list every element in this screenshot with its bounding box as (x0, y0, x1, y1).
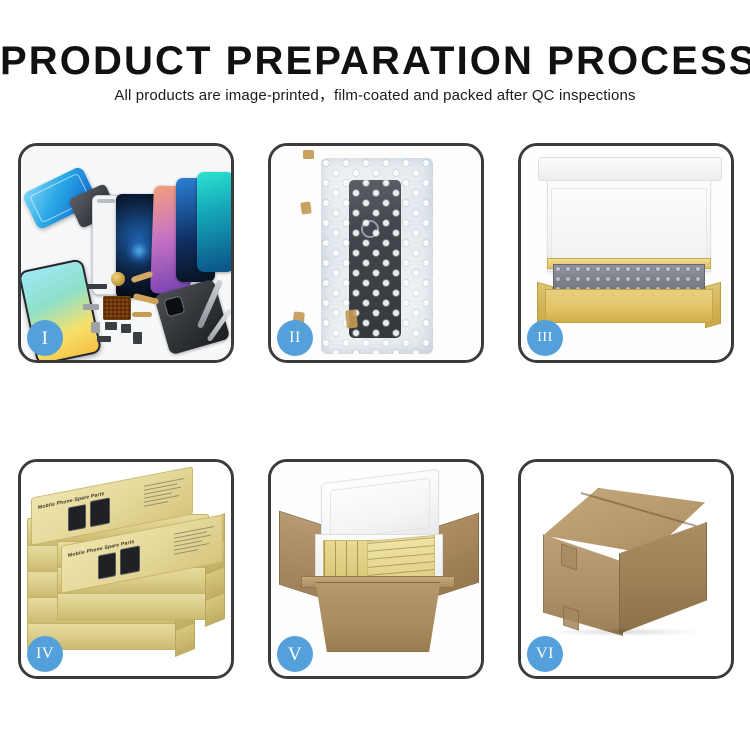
phone-thumbnail-icon (68, 504, 86, 531)
camera-module-icon (105, 322, 117, 330)
carton-shadow (547, 628, 701, 636)
box-spec-lines (174, 526, 214, 562)
screw-set-icon (133, 332, 142, 344)
box-spec-lines (144, 478, 184, 514)
sim-tray-icon (91, 322, 100, 333)
step-badge-1: I (27, 320, 63, 356)
kraft-box-front (545, 289, 713, 323)
bubble-wrap-bag (321, 158, 433, 354)
step-badge-2: II (277, 320, 313, 356)
carton-tape-lower-icon (563, 605, 579, 630)
step-badge-5: V (277, 636, 313, 672)
step-badge-6: VI (527, 636, 563, 672)
phone-thumbnail-icon (90, 497, 110, 527)
metal-bracket-icon (83, 304, 99, 310)
tape-strip-bottom-right-icon (345, 309, 358, 328)
white-foam-sheet (551, 188, 707, 264)
phone-screen-teal-icon (197, 172, 231, 272)
process-step-card-3[interactable]: III (518, 143, 734, 363)
carton-front-panel (307, 582, 449, 652)
tape-strip-mid-icon (300, 201, 312, 214)
process-step-grid: I II (18, 143, 734, 723)
step-badge-3: III (527, 320, 563, 356)
speaker-module-icon (111, 272, 125, 286)
process-step-card-1[interactable]: I (18, 143, 234, 363)
product-preparation-process-page: PRODUCT PREPARATION PROCESS All products… (0, 0, 750, 750)
process-step-card-5[interactable]: V (268, 459, 484, 679)
vibration-motor-icon (121, 324, 131, 333)
bubble-texture (321, 158, 433, 354)
flex-cable-3-icon (132, 312, 152, 317)
page-title: PRODUCT PREPARATION PROCESS (0, 41, 750, 81)
process-step-card-6[interactable]: VI (518, 459, 734, 679)
stacked-box (57, 592, 209, 620)
small-part-icon (87, 284, 107, 289)
phone-thumbnail-icon (98, 552, 116, 579)
tape-strip-top-icon (303, 150, 314, 159)
phone-thumbnail-icon (120, 545, 140, 575)
process-step-card-2[interactable]: II (268, 143, 484, 363)
process-step-card-4[interactable]: Mobile Phone Spare Parts Mobile Phone Sp… (18, 459, 234, 679)
connector-grid-icon (103, 296, 131, 320)
page-subtitle: All products are image-printed，film-coat… (0, 88, 750, 105)
step-badge-4: IV (27, 636, 63, 672)
ribbon-cable-icon (97, 336, 111, 342)
